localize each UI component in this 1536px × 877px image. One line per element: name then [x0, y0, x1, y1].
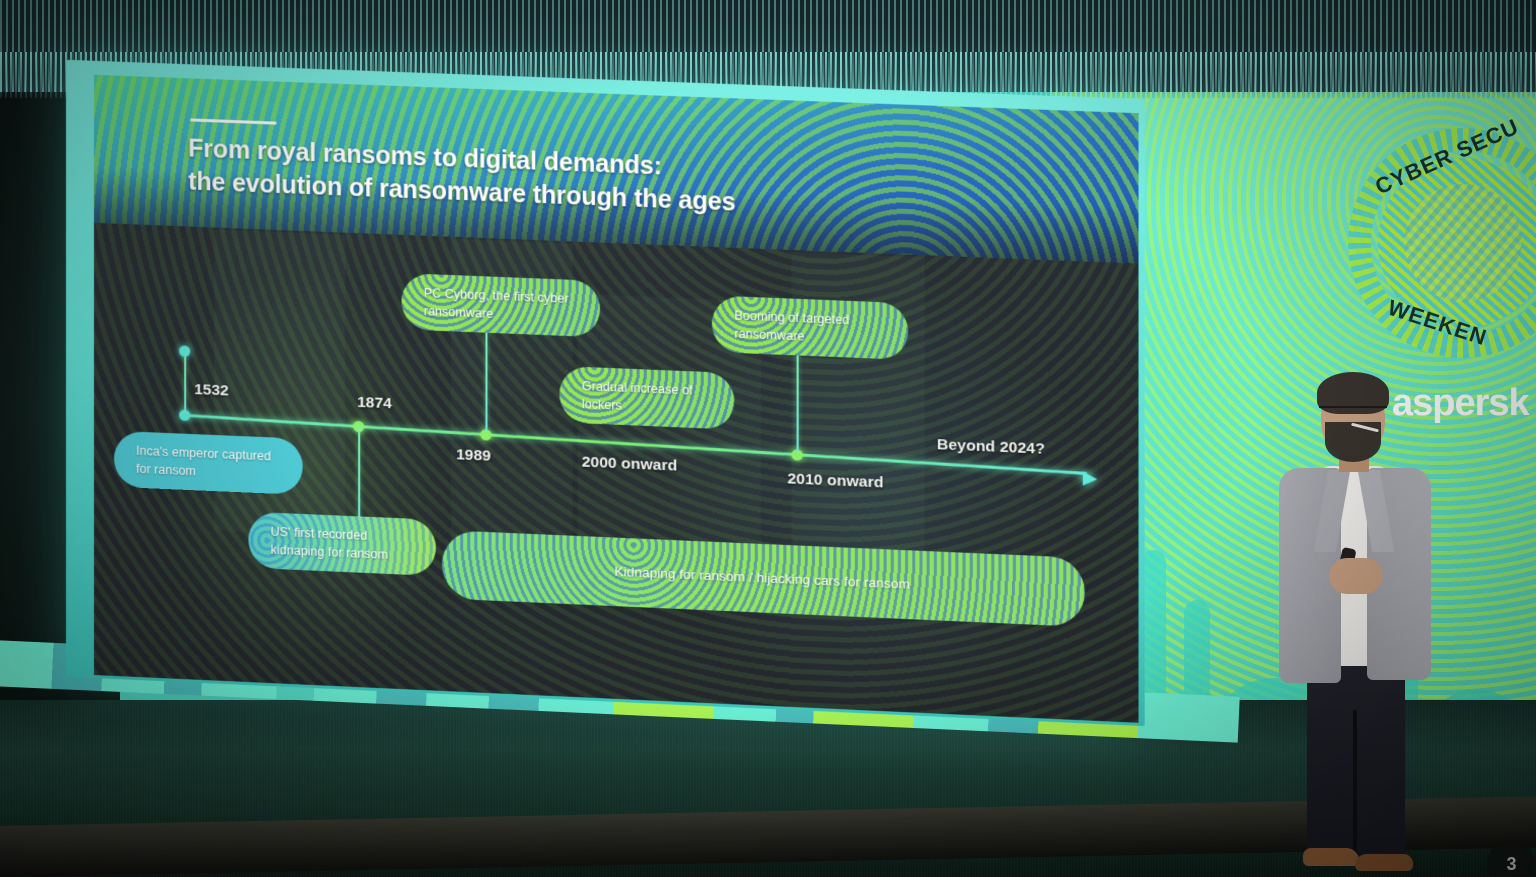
projection-screen: From royal ransoms to digital demands: t…	[72, 66, 1139, 720]
slide: From royal ransoms to digital demands: t…	[94, 75, 1139, 723]
leader-line-inca	[184, 351, 186, 413]
cyber-security-weekend-badge: CYBER SECU WEEKEN	[1348, 128, 1536, 358]
callout-booming-targeted[interactable]: Booming of targeted ransomware	[712, 295, 908, 359]
speaker-shoe-left	[1303, 848, 1359, 866]
badge-text: CYBER SECU WEEKEN	[1348, 128, 1536, 358]
stage-scene: From royal ransoms to digital demands: t…	[0, 0, 1536, 877]
timeline-arrow-icon	[1083, 471, 1098, 486]
speaker-leg-split	[1353, 710, 1357, 860]
callout-pc-cyborg[interactable]: PC Cyborg, the first cyber ransomware	[402, 273, 600, 337]
leader-line-us-kidnap	[358, 426, 360, 527]
speaker-shoe-right	[1355, 854, 1413, 871]
year-label-1989: 1989	[456, 446, 491, 466]
callout-gradual-lockers[interactable]: Gradual increase of lockers	[559, 366, 734, 430]
year-label-1874: 1874	[357, 394, 392, 414]
callout-inca-emperor[interactable]: Inca's emperor captured for ransom	[114, 431, 303, 495]
badge-bottom-text: WEEKEN	[1384, 295, 1490, 351]
speaker-person	[1255, 370, 1455, 870]
year-label-1532: 1532	[194, 381, 229, 400]
speaker-glasses-icon	[1319, 406, 1387, 416]
callout-us-first-kidnaping[interactable]: US' first recorded kidnaping for ransom	[248, 512, 435, 576]
speaker-hands	[1329, 558, 1383, 594]
leader-dot-inca	[179, 345, 190, 356]
